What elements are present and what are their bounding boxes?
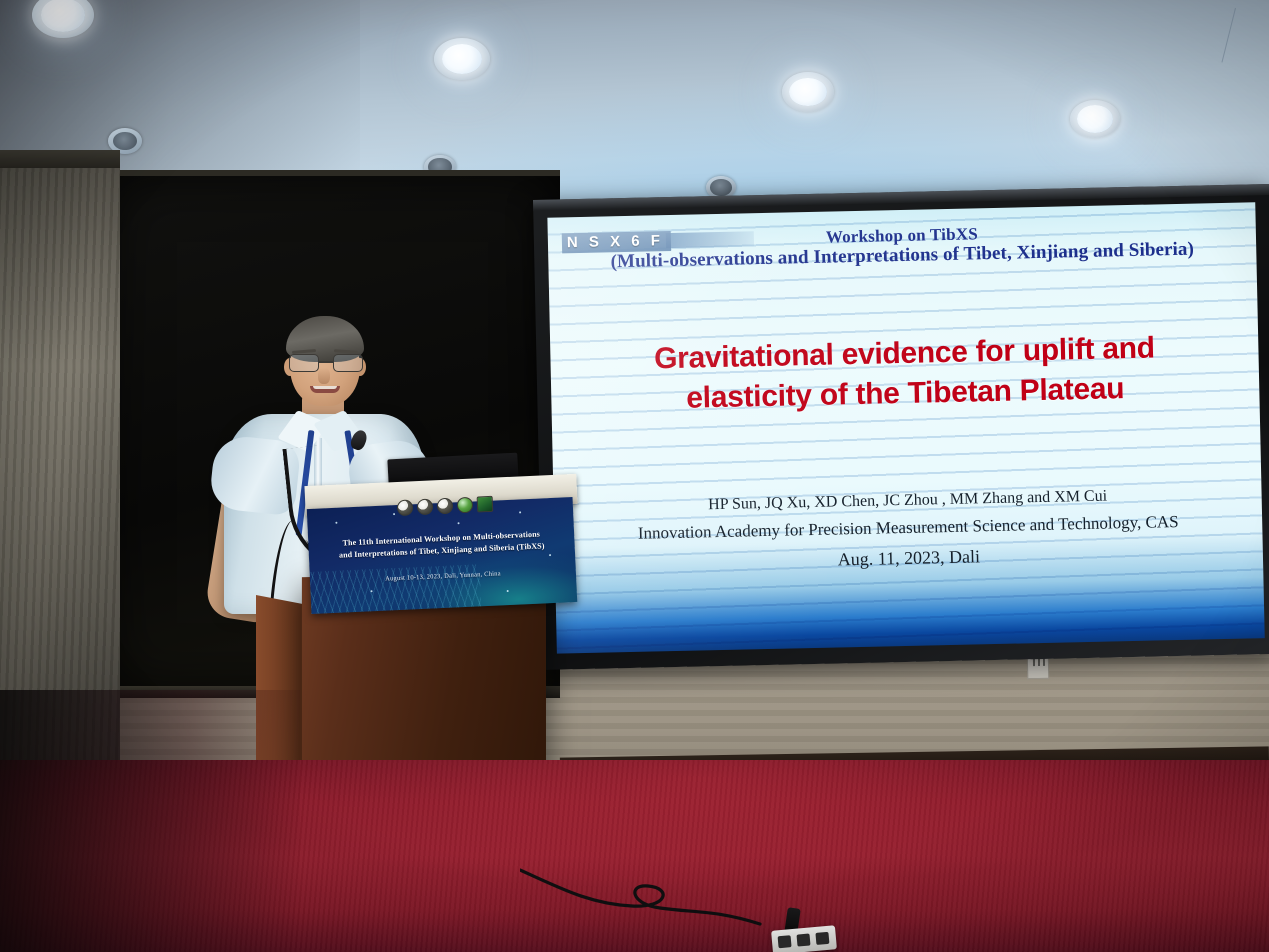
speaker-nose [318, 368, 330, 384]
sponsor-logo-3-icon [436, 498, 453, 515]
floor-power-strip [771, 925, 837, 952]
sponsor-logo-4-icon [456, 497, 473, 514]
osd-overlay-band [666, 231, 754, 248]
ceiling-downlight-on [434, 38, 490, 80]
slide-author-block: HP Sun, JQ Xu, XD Chen, JC Zhou , MM Zha… [553, 480, 1263, 581]
sponsor-logo-5-icon [476, 496, 493, 513]
power-strip-socket [797, 933, 811, 946]
floor-cable [520, 860, 770, 930]
floor-shadow [0, 690, 300, 952]
projector-osd-label: N S X 6 F [562, 231, 671, 253]
slide-content: Workshop on TibXS (Multi-observations an… [547, 202, 1264, 653]
dark-wall-panel-edge [105, 170, 560, 176]
slide-title: Gravitational evidence for uplift and el… [550, 326, 1260, 422]
presentation-screen: Workshop on TibXS (Multi-observations an… [533, 184, 1269, 670]
power-strip-socket [778, 935, 792, 948]
speaker-teeth [313, 386, 337, 389]
ceiling-downlight-on [1070, 100, 1120, 138]
sponsor-logo-2-icon [416, 499, 433, 516]
power-strip-socket [815, 932, 829, 945]
sponsor-logo-1-icon [396, 499, 413, 516]
presentation-photo-scene: Workshop on TibXS (Multi-observations an… [0, 0, 1269, 952]
wall-left-trim [0, 150, 120, 168]
ceiling-downlight-on [782, 72, 834, 112]
